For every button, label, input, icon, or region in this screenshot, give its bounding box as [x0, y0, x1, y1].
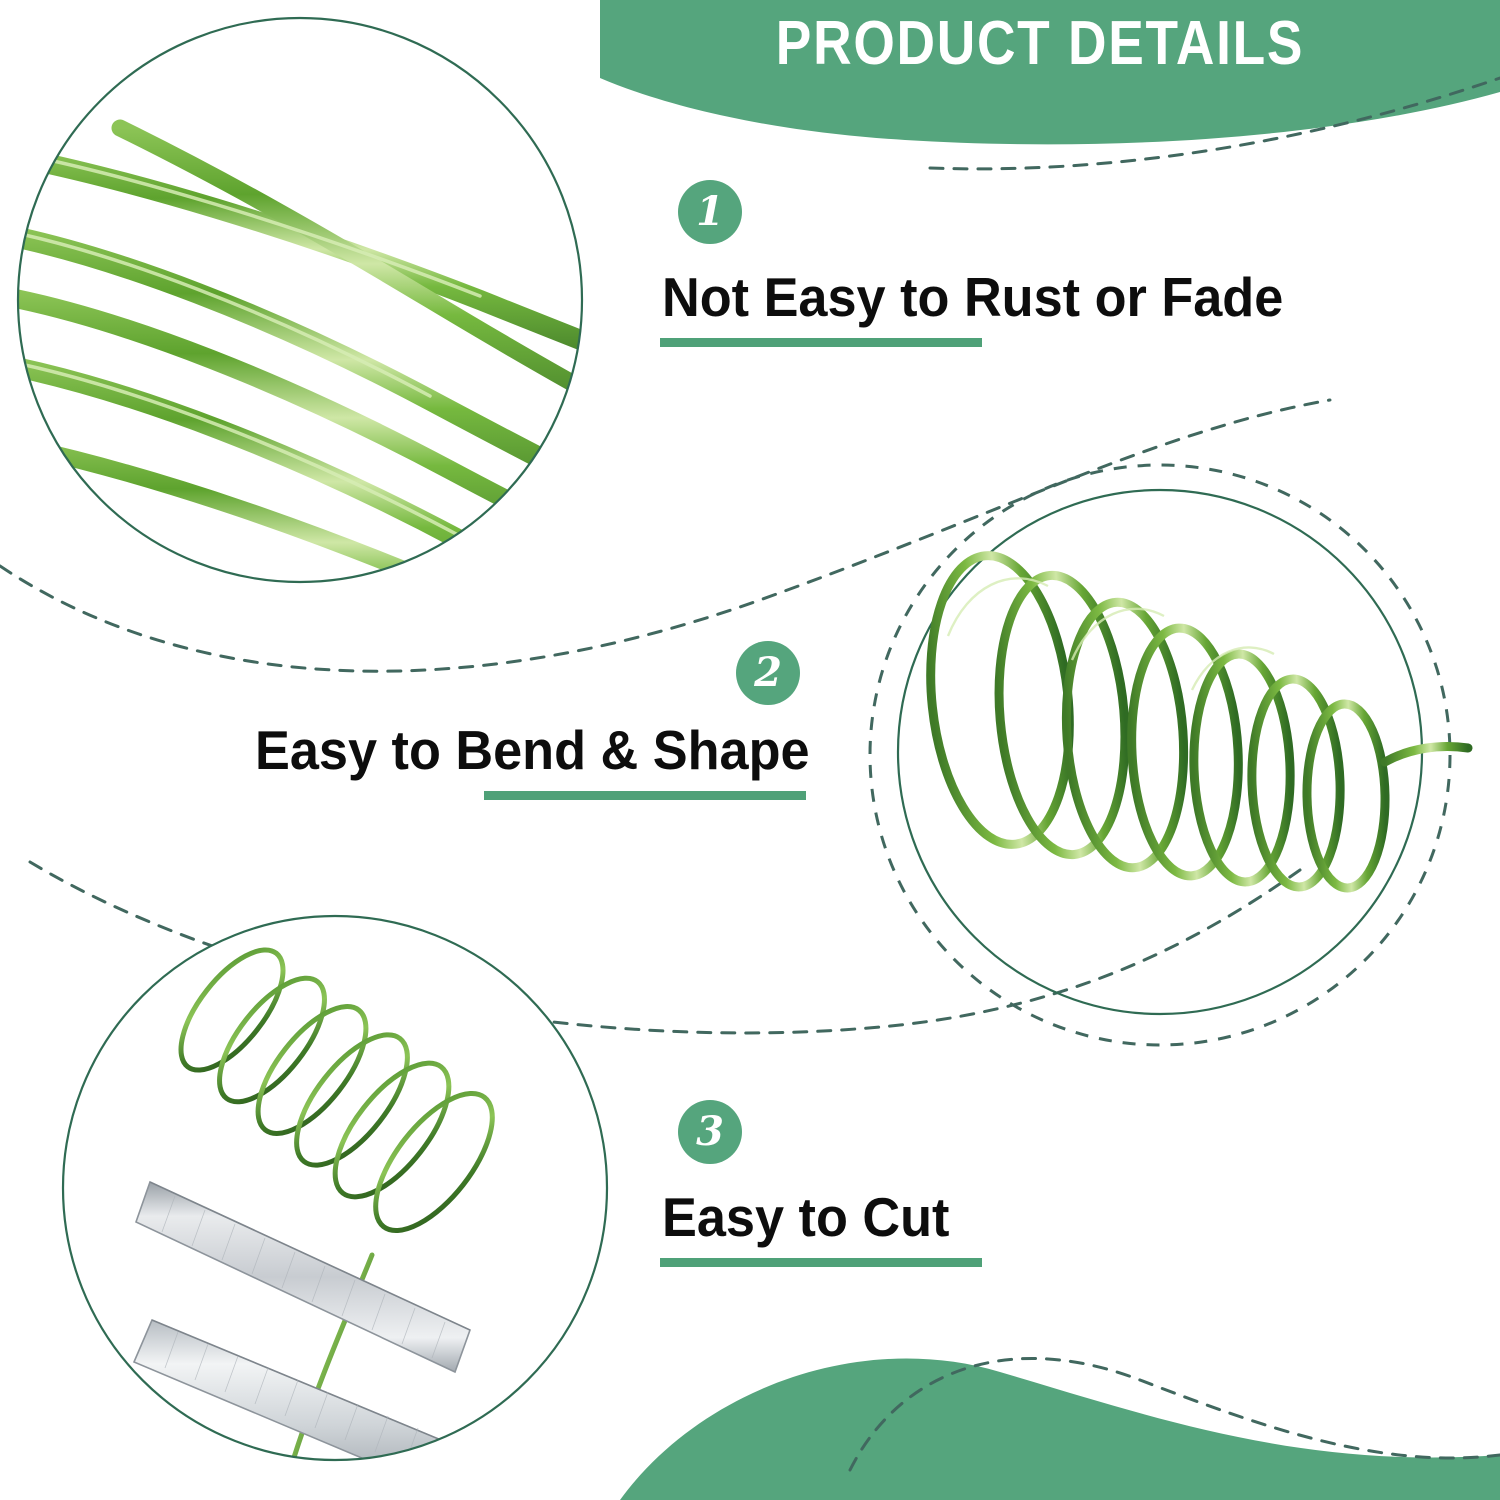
- feature-block-3: 3 Easy to Cut: [0, 0, 1500, 1500]
- feature-badge-3: 3: [678, 1100, 742, 1164]
- feature-underline-3: [660, 1258, 982, 1267]
- product-details-infographic: PRODUCT DETAILS 1 Not Easy to Rust or Fa…: [0, 0, 1500, 1500]
- feature-title-3: Easy to Cut: [662, 1185, 949, 1249]
- page-title: PRODUCT DETAILS: [662, 8, 1419, 79]
